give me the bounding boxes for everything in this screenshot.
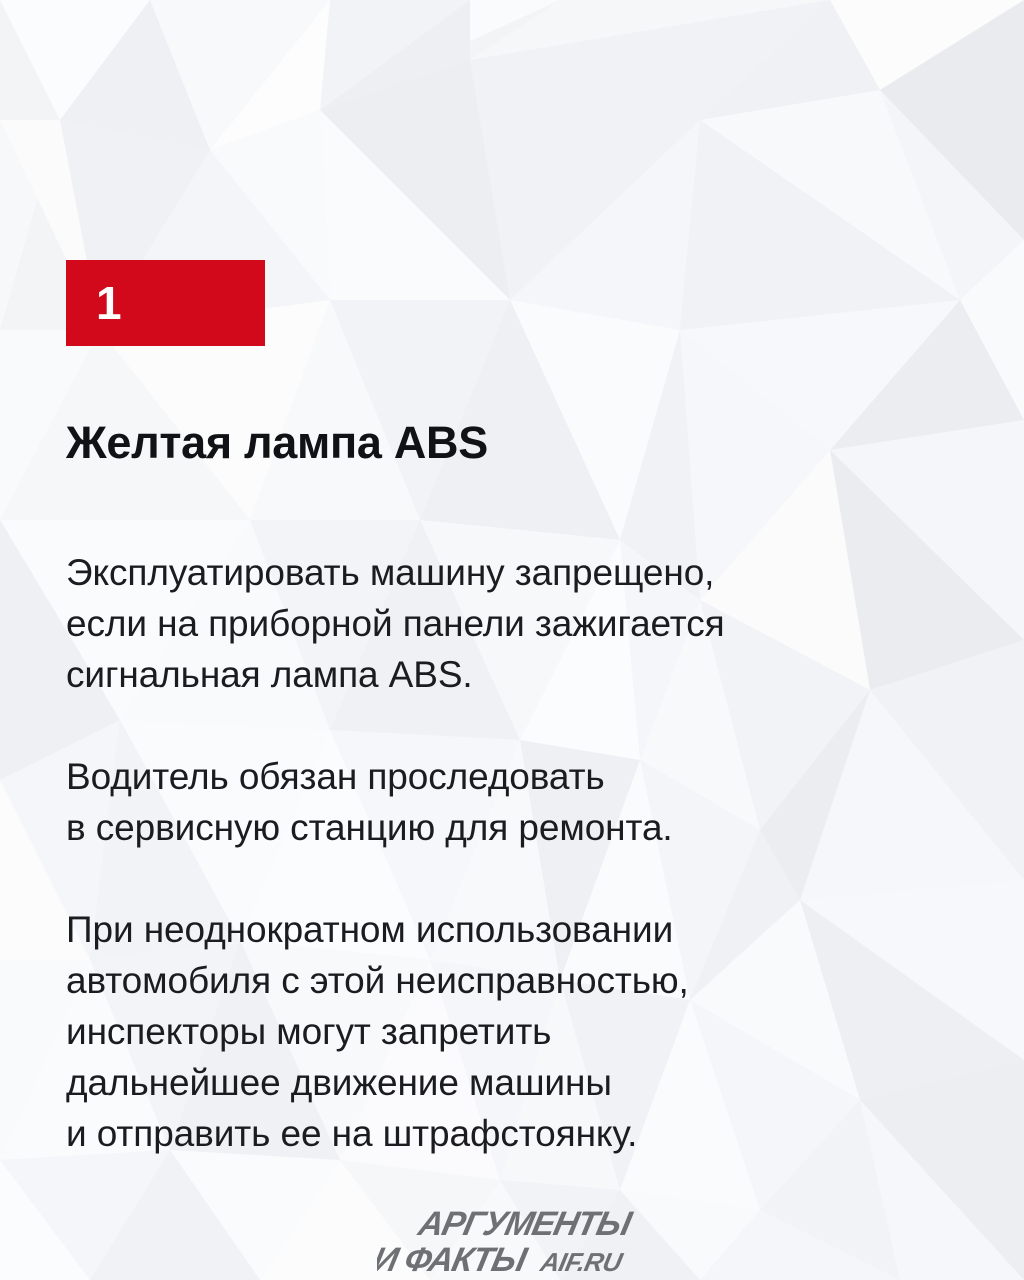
aif-logo: АРГУМЕНТЫ И ФАКТЫ AIF.RU	[372, 1196, 652, 1280]
logo-line-1: АРГУМЕНТЫ	[414, 1205, 635, 1243]
step-number: 1	[66, 280, 122, 326]
logo-domain: AIF.RU	[537, 1247, 626, 1277]
page-title: Желтая лампа ABS	[66, 418, 488, 468]
paragraph: Эксплуатировать машину запрещено, если н…	[66, 547, 971, 700]
body-text-block: Эксплуатировать машину запрещено, если н…	[66, 547, 971, 1159]
logo-line-2: И ФАКТЫ	[377, 1241, 531, 1279]
info-card: 1 Желтая лампа ABS Эксплуатировать машин…	[0, 0, 1024, 1280]
paragraph: При неоднократном использовании автомоби…	[66, 904, 971, 1159]
card-content: 1 Желтая лампа ABS Эксплуатировать машин…	[66, 0, 976, 1280]
paragraph: Водитель обязан проследовать в сервисную…	[66, 751, 971, 853]
step-number-badge: 1	[66, 260, 265, 346]
